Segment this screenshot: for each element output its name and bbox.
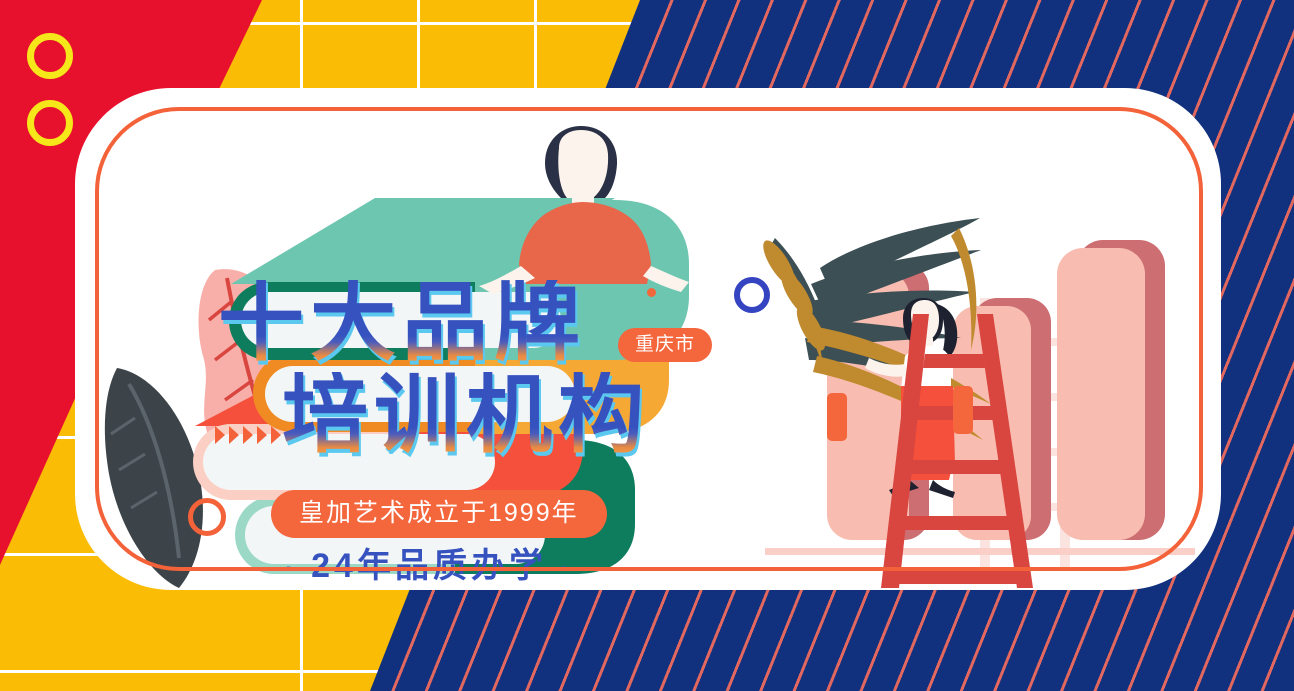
title-line1: 十大品牌: [218, 280, 586, 366]
text-block: 十大品牌 十大品牌 培训机构 培训机构 重庆市 皇加艺术成立于1999年 · 2…: [75, 88, 1221, 590]
yellow-ring-top: [27, 33, 73, 79]
city-badge: 重庆市: [618, 328, 712, 362]
title-line2: 培训机构: [282, 372, 650, 458]
founded-year-pill: 皇加艺术成立于1999年: [271, 490, 607, 538]
tagline-dot-left: ·: [285, 553, 298, 583]
content-card: 十大品牌 十大品牌 培训机构 培训机构 重庆市 皇加艺术成立于1999年 · 2…: [75, 88, 1221, 590]
tagline-text: 24年品质办学: [311, 547, 547, 585]
decorative-dot-icon: [647, 288, 656, 297]
blue-ring-icon: [734, 277, 770, 313]
promotional-banner: 十大品牌 十大品牌 培训机构 培训机构 重庆市 皇加艺术成立于1999年 · 2…: [0, 0, 1294, 691]
orange-ring-icon: [188, 498, 226, 536]
tagline: · 24年品质办学 ·: [285, 543, 573, 590]
yellow-ring-bottom: [27, 100, 73, 146]
chevron-arrows-icon: [215, 426, 285, 444]
tagline-dot-right: ·: [560, 553, 573, 583]
